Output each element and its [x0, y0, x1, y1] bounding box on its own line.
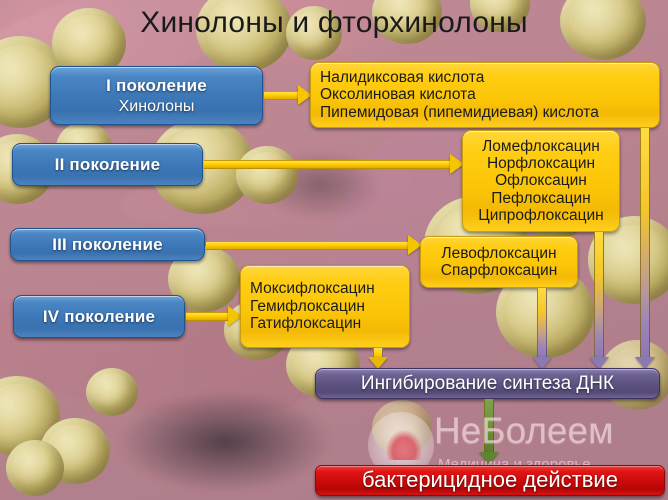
gen-4-drugs-box[interactable]: Моксифлоксацин Гемифлоксацин Гатифлоксац… — [240, 265, 410, 348]
drug-item: Левофлоксацин — [441, 245, 556, 262]
drug-item: Офлоксацин — [495, 172, 587, 189]
drug-item: Оксолиновая кислота — [320, 86, 476, 103]
gen-1-drugs-box[interactable]: Налидиксовая кислота Оксолиновая кислота… — [310, 62, 660, 128]
gen-1-box[interactable]: I поколение Хинолоны — [50, 66, 263, 125]
arrow-gen4drugs-to-mechanism — [371, 348, 385, 370]
drug-item: Гатифлоксацин — [250, 315, 361, 332]
mechanism-box[interactable]: Ингибирование синтеза ДНК — [315, 368, 660, 399]
drug-item: Норфлоксацин — [487, 155, 595, 172]
gen-2-box[interactable]: II поколение — [12, 143, 203, 186]
drug-item: Пефлоксацин — [491, 190, 590, 207]
gen-3-drugs-box[interactable]: Левофлоксацин Спарфлоксацин — [420, 236, 578, 288]
arrow-gen2-to-drugs — [204, 158, 464, 171]
gen-3-box[interactable]: III поколение — [10, 228, 205, 261]
drug-item: Гемифлоксацин — [250, 298, 365, 315]
mechanism-label: Ингибирование синтеза ДНК — [361, 373, 614, 394]
gen-4-label: IV поколение — [43, 307, 155, 326]
gen-3-label: III поколение — [52, 235, 163, 254]
drug-item: Ломефлоксацин — [482, 138, 600, 155]
page-title: Хинолоны и фторхинолоны — [0, 6, 668, 40]
drug-item: Ципрофлоксацин — [478, 207, 603, 224]
arrow-gen4-to-drugs — [186, 310, 242, 323]
drug-item: Пипемидовая (пипемидиевая) кислота — [320, 104, 599, 121]
effect-box[interactable]: бактерицидное действие — [315, 465, 665, 496]
effect-label: бактерицидное действие — [362, 468, 618, 493]
arrow-gen2drugs-to-mechanism — [592, 232, 606, 370]
drug-item: Моксифлоксацин — [250, 280, 375, 297]
diagram-canvas: Хинолоны и фторхинолоны I поколение Хино… — [0, 0, 668, 500]
arrow-gen1-to-drugs — [264, 89, 312, 102]
gen-1-sublabel: Хинолоны — [119, 98, 195, 116]
arrow-gen3-to-drugs — [206, 239, 422, 252]
gen-1-label: I поколение — [106, 76, 207, 95]
arrow-mechanism-to-effect — [482, 399, 496, 465]
gen-2-label: II поколение — [55, 155, 161, 174]
drug-item: Спарфлоксацин — [441, 262, 558, 279]
drug-item: Налидиксовая кислота — [320, 69, 484, 86]
gen-4-box[interactable]: IV поколение — [13, 295, 185, 338]
arrow-gen3drugs-to-mechanism — [535, 288, 549, 370]
gen-2-drugs-box[interactable]: Ломефлоксацин Норфлоксацин Офлоксацин Пе… — [462, 130, 620, 232]
arrow-gen1drugs-to-mechanism — [638, 128, 652, 370]
